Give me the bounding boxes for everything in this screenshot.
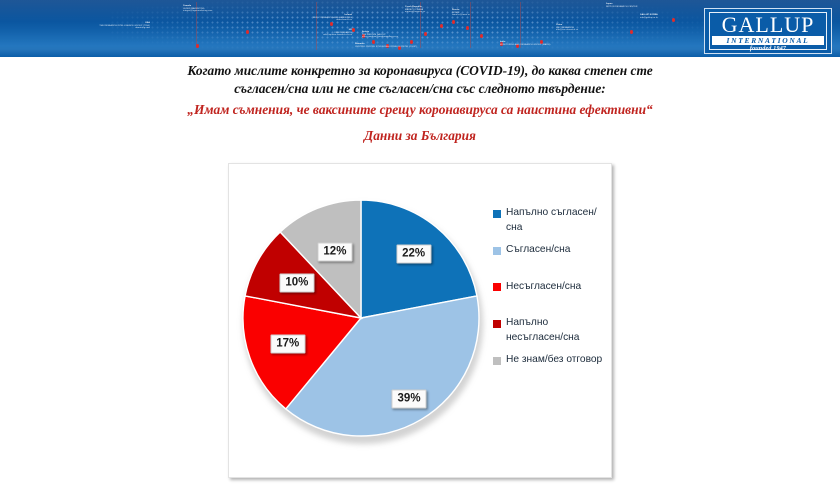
statement-text: „Имам съмнения, че ваксините срещу корон… xyxy=(120,100,720,120)
map-dot xyxy=(466,26,469,30)
legend-label-dont-know: Не знам/без отговор xyxy=(506,353,602,368)
legend-swatch-strongly-disagree xyxy=(493,320,501,328)
map-label: India MONITORING AND RESEARCH GROUP (MAR… xyxy=(500,41,564,46)
map-label: Canada LEGER MARKETING integra@legermark… xyxy=(183,5,243,13)
legend-swatch-disagree xyxy=(493,283,501,291)
map-label: USA THE RESEARCH INTELLIGENCE GROUP (TRi… xyxy=(88,22,150,30)
legend-swatch-dont-know xyxy=(493,357,501,365)
map-dot xyxy=(452,20,455,24)
map-label: Ireland RED C RESEARCH AND MARKETING red… xyxy=(290,14,352,22)
legend-label-strongly-agree: Напълно съгласен/сна xyxy=(506,206,605,235)
legend-label-agree: Съгласен/сна xyxy=(506,243,570,258)
map-connector-line xyxy=(316,2,317,50)
chart-panel: 22%39%17%10%12% Напълно съгласен/сна Съг… xyxy=(228,163,612,478)
pie-data-label: 17% xyxy=(270,335,305,354)
map-label: Japan NIPPON RESEARCH CENTER xyxy=(606,3,658,8)
header-banner: USA THE RESEARCH INTELLIGENCE GROUP (TRi… xyxy=(0,0,840,57)
map-dot xyxy=(630,30,633,34)
logo-subtitle-bar: INTERNATIONAL xyxy=(712,36,824,45)
map-dot xyxy=(352,28,355,32)
pie-svg xyxy=(241,198,481,438)
chart-legend: Напълно съгласен/сна Съгласен/сна Несъгл… xyxy=(493,206,605,370)
map-label: Romania CENTRUL PENTRU STUDIEREA OPINIEI… xyxy=(355,43,429,48)
legend-swatch-agree xyxy=(493,247,501,255)
logo-founded-text: founded 1947 xyxy=(750,46,786,52)
subtitle-text: Данни за България xyxy=(120,127,720,145)
legend-swatch-strongly-agree xyxy=(493,210,501,218)
legend-item-agree[interactable]: Съгласен/сна xyxy=(493,243,605,258)
map-label: Russia ROMIR romir.ru@romir.ru xyxy=(452,9,502,17)
map-dot xyxy=(480,34,483,38)
pie-data-label: 10% xyxy=(279,273,314,292)
map-dot xyxy=(196,44,199,48)
pie-data-label: 12% xyxy=(317,243,352,262)
pie-data-label: 39% xyxy=(392,390,427,409)
question-line-2: съгласен/сна или не сте съгласен/сна със… xyxy=(120,80,720,98)
map-label: UK ORB RESEARCH orb@opinion-research.co.… xyxy=(290,29,352,37)
legend-label-disagree: Несъгласен/сна xyxy=(506,280,581,295)
slide-root: USA THE RESEARCH INTELLIGENCE GROUP (TRi… xyxy=(0,0,840,489)
pie-chart: 22%39%17%10%12% xyxy=(237,196,485,444)
logo-frame: GALLUP INTERNATIONAL founded 1947 xyxy=(709,12,827,50)
pie-data-label: 22% xyxy=(396,245,431,264)
map-label: China CNC RESEARCH info@cnc-research.cn xyxy=(556,24,612,32)
map-dot xyxy=(330,22,333,26)
logo-wordmark: GALLUP xyxy=(722,14,815,35)
logo-subtitle: INTERNATIONAL xyxy=(727,36,810,45)
title-block: Когато мислите конкретно за коронавируса… xyxy=(120,62,720,145)
map-dot xyxy=(246,30,249,34)
map-label: GALLUP KOREA info@gallup.co.kr xyxy=(640,14,690,19)
map-label: Serbia THE MEDIUM GALLUP office.medium@m… xyxy=(362,31,432,39)
map-dot xyxy=(440,24,443,28)
question-line-1: Когато мислите конкретно за коронавируса… xyxy=(120,62,720,80)
legend-item-strongly-disagree[interactable]: Напълно несъгласен/сна xyxy=(493,316,605,345)
legend-item-strongly-agree[interactable]: Напълно съгласен/сна xyxy=(493,206,605,235)
legend-item-disagree[interactable]: Несъгласен/сна xyxy=(493,280,605,295)
legend-label-strongly-disagree: Напълно несъгласен/сна xyxy=(506,316,605,345)
gallup-logo: GALLUP INTERNATIONAL founded 1947 xyxy=(704,8,832,54)
legend-item-dont-know[interactable]: Не знам/без отговор xyxy=(493,353,605,368)
